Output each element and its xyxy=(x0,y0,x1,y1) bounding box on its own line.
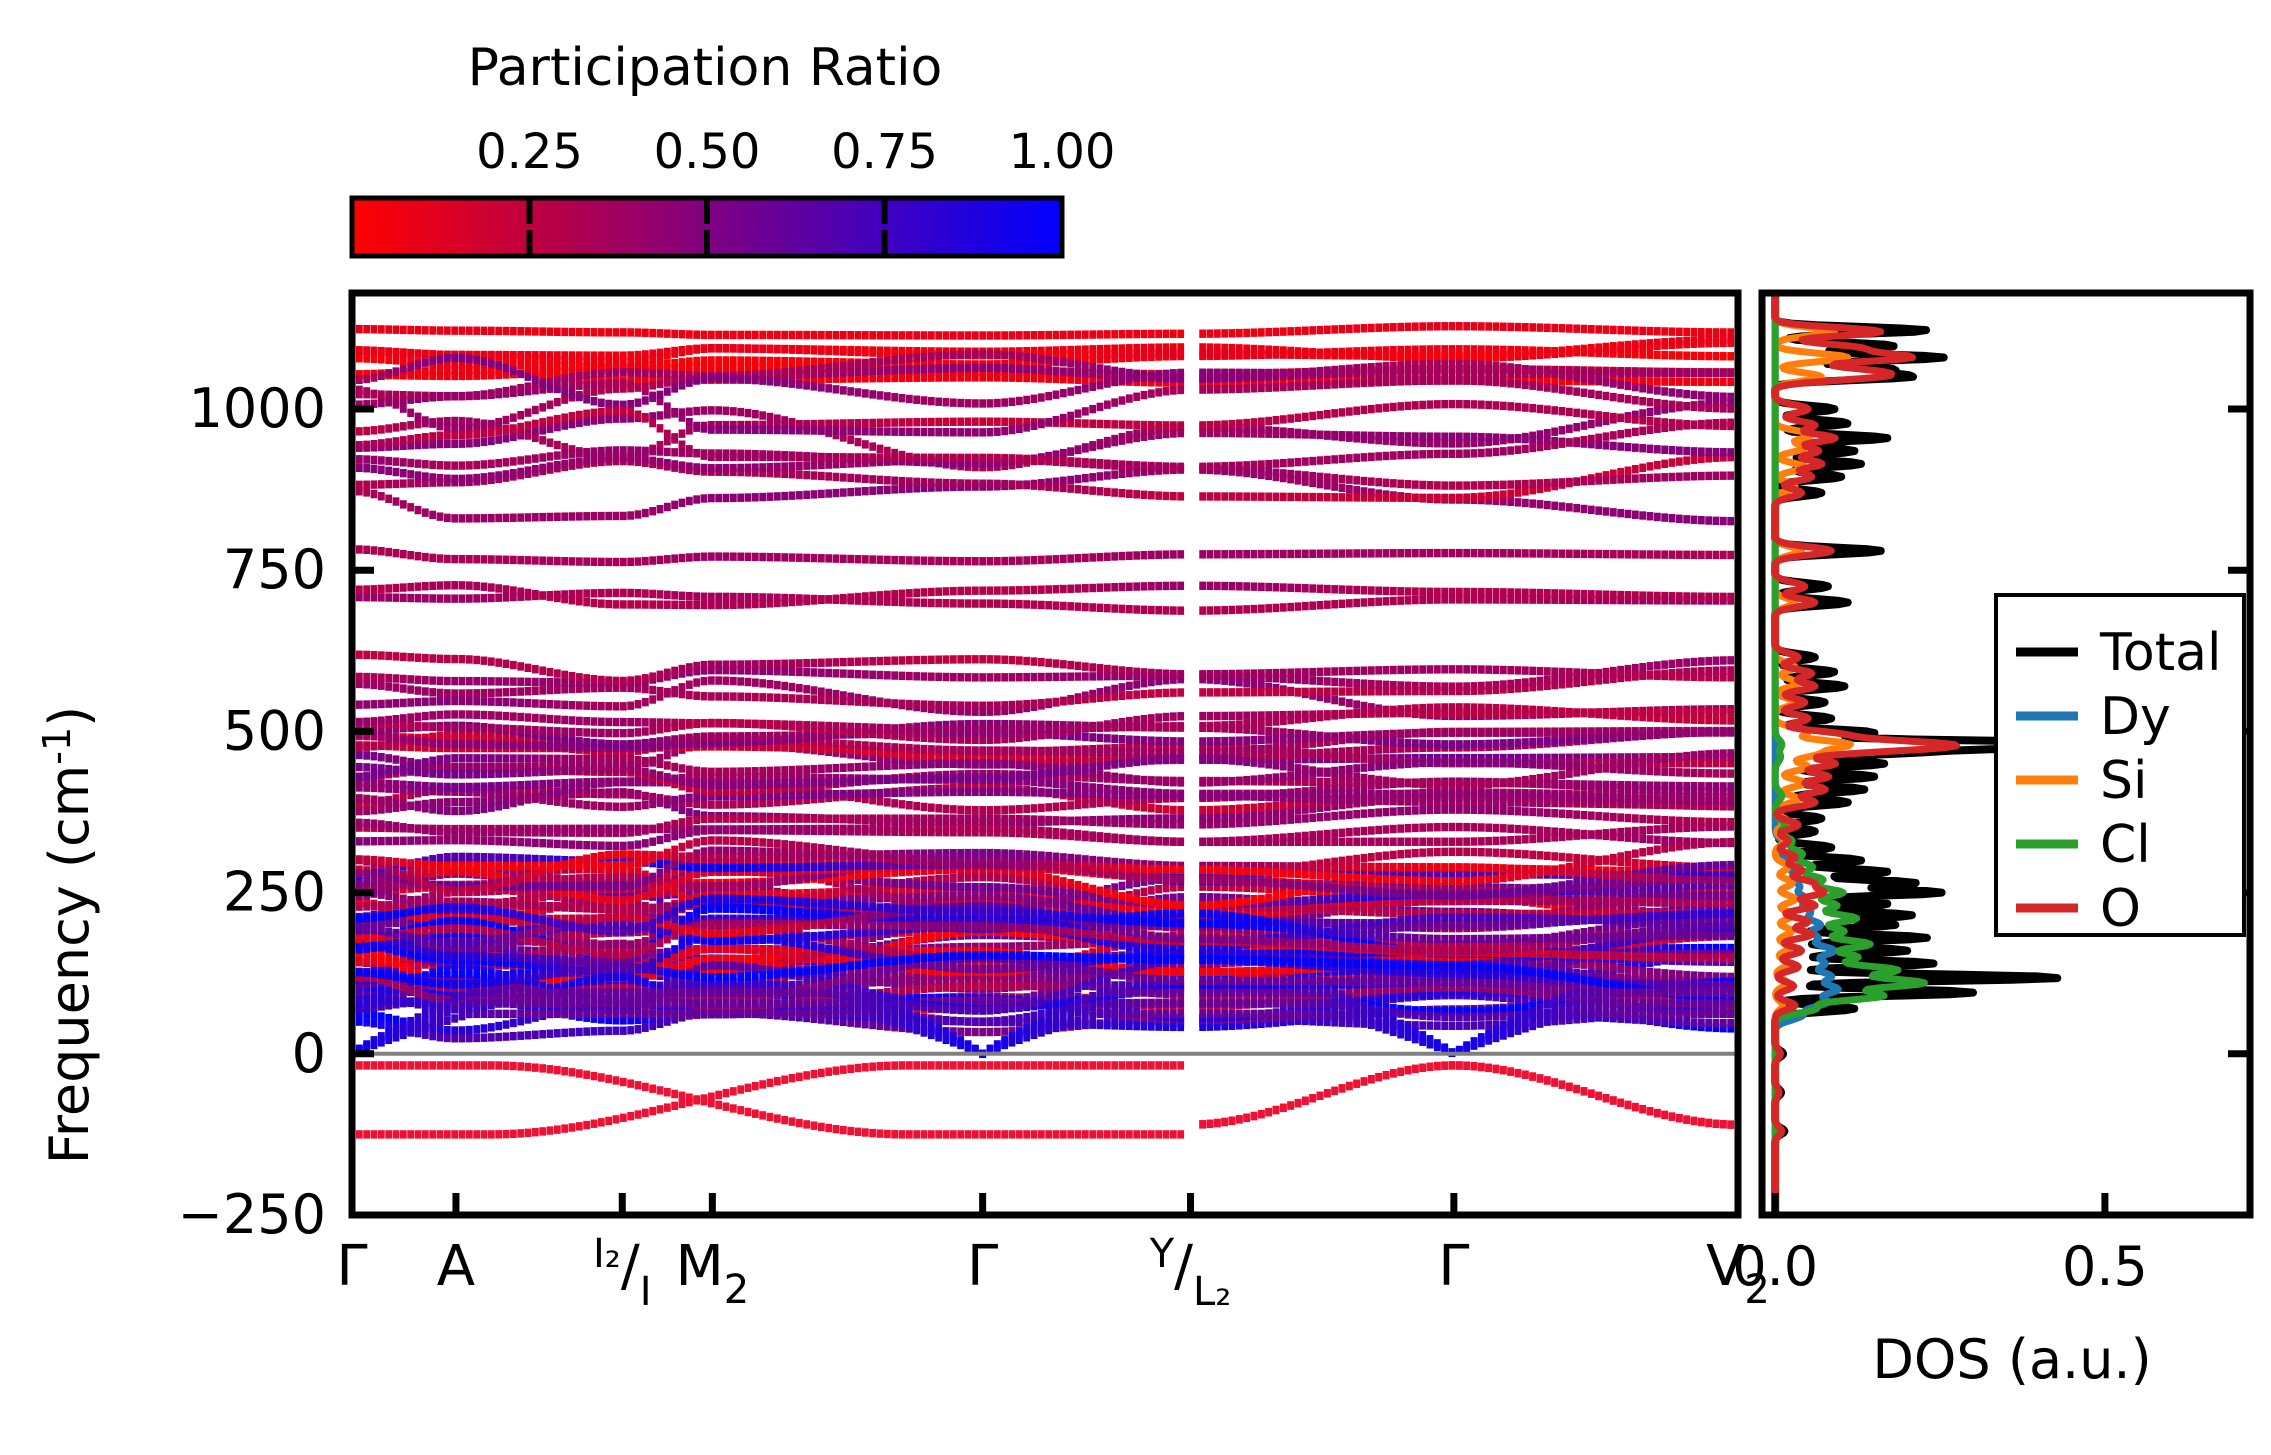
band-point xyxy=(1317,431,1324,439)
band-point xyxy=(1559,549,1566,557)
band-point xyxy=(1713,419,1720,427)
band-point xyxy=(1236,550,1243,558)
band-point xyxy=(1654,386,1661,394)
band-point xyxy=(884,486,891,494)
band-point xyxy=(730,677,737,685)
band-point xyxy=(1522,499,1529,507)
band-point xyxy=(1251,429,1258,437)
band-point xyxy=(481,555,488,563)
band-point xyxy=(378,347,385,355)
band-point xyxy=(1361,549,1368,557)
band-point xyxy=(481,657,488,665)
band-point xyxy=(1075,361,1082,369)
band-point xyxy=(987,454,994,462)
band-point xyxy=(1089,486,1096,494)
band-point xyxy=(415,413,422,421)
band-point xyxy=(1097,330,1104,338)
band-point xyxy=(1625,341,1632,349)
band-point xyxy=(1331,369,1338,377)
band-point xyxy=(429,594,436,602)
band-point xyxy=(415,654,422,662)
band-point xyxy=(891,656,898,664)
band-point xyxy=(1016,600,1023,608)
band-point xyxy=(1375,324,1382,332)
band-point xyxy=(693,601,700,609)
band-point xyxy=(1097,604,1104,612)
band-point xyxy=(715,425,722,433)
band-point xyxy=(1273,350,1280,358)
band-point xyxy=(1493,362,1500,370)
band-point xyxy=(569,672,576,680)
band-point xyxy=(371,742,378,750)
band-point xyxy=(1632,383,1639,391)
band-point xyxy=(591,409,598,417)
band-point xyxy=(1720,404,1727,412)
band-point xyxy=(1559,347,1566,355)
band-point xyxy=(539,464,546,472)
band-point xyxy=(1522,323,1529,331)
band-point xyxy=(965,479,972,487)
band-point xyxy=(1669,473,1676,481)
band-point xyxy=(1617,591,1624,599)
band-point xyxy=(437,440,444,448)
band-point xyxy=(503,660,510,668)
band-point xyxy=(1647,671,1654,679)
band-point xyxy=(1375,597,1382,605)
band-point xyxy=(1031,395,1038,403)
band-point xyxy=(503,364,510,372)
band-point xyxy=(554,423,561,431)
band-point xyxy=(371,673,378,681)
band-point xyxy=(1060,331,1067,339)
band-point xyxy=(459,439,466,447)
band-point xyxy=(752,357,759,365)
band-point xyxy=(1075,350,1082,358)
band-point xyxy=(1683,672,1690,680)
band-point xyxy=(627,676,634,684)
band-point xyxy=(1610,476,1617,484)
band-point xyxy=(459,689,466,697)
band-point xyxy=(855,368,862,376)
band-point xyxy=(451,431,458,439)
band-point xyxy=(1045,601,1052,609)
band-point xyxy=(1082,603,1089,611)
band-point xyxy=(1119,583,1126,591)
band-point xyxy=(532,590,539,598)
band-point xyxy=(1588,506,1595,514)
band-point xyxy=(833,669,840,677)
band-point xyxy=(906,331,913,339)
band-point xyxy=(400,391,407,399)
band-point xyxy=(965,673,972,681)
band-point xyxy=(1207,350,1214,358)
band-point xyxy=(517,411,524,419)
band-point xyxy=(371,347,378,355)
band-point xyxy=(1434,481,1441,489)
band-point xyxy=(1273,469,1280,477)
band-point xyxy=(825,689,832,697)
band-point xyxy=(371,700,378,708)
band-point xyxy=(407,675,414,683)
band-point xyxy=(1720,393,1727,401)
band-point xyxy=(1060,449,1067,457)
band-point xyxy=(510,457,517,465)
band-point xyxy=(1471,481,1478,489)
band-point xyxy=(1177,350,1184,358)
band-point xyxy=(1588,410,1595,418)
band-point xyxy=(1485,370,1492,378)
band-point xyxy=(1097,441,1104,449)
band-point xyxy=(1023,481,1030,489)
band-point xyxy=(429,357,436,365)
band-point xyxy=(576,557,583,565)
band-point xyxy=(1676,389,1683,397)
band-point xyxy=(972,417,979,425)
band-point xyxy=(1647,474,1654,482)
band-point xyxy=(1485,401,1492,409)
band-point xyxy=(1412,494,1419,502)
band-point xyxy=(422,460,429,468)
band-point xyxy=(1493,322,1500,330)
band-point xyxy=(451,392,458,400)
band-point xyxy=(781,379,788,387)
band-point xyxy=(532,699,539,707)
band-point xyxy=(935,352,942,360)
band-point xyxy=(1390,403,1397,411)
band-point xyxy=(1581,389,1588,397)
band-point xyxy=(1339,697,1346,705)
band-point xyxy=(1661,460,1668,468)
band-point xyxy=(1537,370,1544,378)
band-point xyxy=(855,348,862,356)
band-point xyxy=(1346,325,1353,333)
band-point xyxy=(715,331,722,339)
band-point xyxy=(994,599,1001,607)
band-point xyxy=(1441,432,1448,440)
band-point xyxy=(503,327,510,335)
band-point xyxy=(1009,600,1016,608)
band-point xyxy=(356,651,363,659)
band-point xyxy=(1353,549,1360,557)
band-point xyxy=(598,676,605,684)
band-point xyxy=(1141,679,1148,687)
band-point xyxy=(1632,396,1639,404)
band-point xyxy=(921,396,928,404)
band-point xyxy=(1119,460,1126,468)
band-point xyxy=(569,420,576,428)
band-point xyxy=(1251,582,1258,590)
band-point xyxy=(1295,602,1302,610)
band-point xyxy=(1221,492,1228,500)
band-point xyxy=(1427,322,1434,330)
band-point xyxy=(569,390,576,398)
band-point xyxy=(488,583,495,591)
band-point xyxy=(466,474,473,482)
band-point xyxy=(1478,588,1485,596)
band-point xyxy=(1383,352,1390,360)
band-point xyxy=(1111,583,1118,591)
band-point xyxy=(1603,432,1610,440)
band-point xyxy=(1647,327,1654,335)
band-point xyxy=(737,375,744,383)
band-point xyxy=(657,687,664,695)
band-point xyxy=(356,427,363,435)
band-point xyxy=(1419,401,1426,409)
band-point xyxy=(715,552,722,560)
band-point xyxy=(693,692,700,700)
band-point xyxy=(840,362,847,370)
band-point xyxy=(1727,335,1734,343)
band-point xyxy=(789,357,796,365)
band-point xyxy=(1537,443,1544,451)
band-point xyxy=(796,491,803,499)
band-point xyxy=(1353,586,1360,594)
band-point xyxy=(664,688,671,696)
band-point xyxy=(1258,350,1265,358)
band-point xyxy=(1060,358,1067,366)
band-point xyxy=(1251,550,1258,558)
band-point xyxy=(1669,458,1676,466)
band-point xyxy=(451,417,458,425)
band-point xyxy=(1104,365,1111,373)
band-point xyxy=(517,699,524,707)
band-point xyxy=(363,751,370,759)
band-point xyxy=(884,476,891,484)
band-point xyxy=(767,357,774,365)
band-point xyxy=(840,555,847,563)
band-point xyxy=(1163,387,1170,395)
band-point xyxy=(481,371,488,379)
band-point xyxy=(1691,328,1698,336)
band-point xyxy=(525,589,532,597)
band-point xyxy=(1280,369,1287,377)
band-point xyxy=(1331,380,1338,388)
band-point xyxy=(715,494,722,502)
band-point xyxy=(1141,462,1148,470)
band-point xyxy=(517,588,524,596)
band-point xyxy=(1126,394,1133,402)
band-point xyxy=(1485,377,1492,385)
band-point xyxy=(576,372,583,380)
band-point xyxy=(789,331,796,339)
band-point xyxy=(1639,444,1646,452)
band-point xyxy=(1397,451,1404,459)
band-point xyxy=(723,453,730,461)
band-point xyxy=(679,330,686,338)
band-point xyxy=(1705,419,1712,427)
band-point xyxy=(1023,657,1030,665)
band-point xyxy=(965,399,972,407)
band-point xyxy=(1669,592,1676,600)
band-point xyxy=(1133,330,1140,338)
band-point xyxy=(657,349,664,357)
band-point xyxy=(1485,681,1492,689)
band-point xyxy=(715,593,722,601)
band-point xyxy=(627,511,634,519)
band-point xyxy=(1089,672,1096,680)
band-point xyxy=(774,426,781,434)
band-point xyxy=(1705,551,1712,559)
band-point xyxy=(708,406,715,414)
band-point xyxy=(723,692,730,700)
band-point xyxy=(1449,370,1456,378)
band-point xyxy=(1170,369,1177,377)
band-point xyxy=(1221,350,1228,358)
band-point xyxy=(943,428,950,436)
band-point xyxy=(1529,589,1536,597)
band-point xyxy=(1412,596,1419,604)
band-point xyxy=(1654,327,1661,335)
band-point xyxy=(767,331,774,339)
band-point xyxy=(1221,462,1228,470)
band-point xyxy=(1280,550,1287,558)
band-point xyxy=(877,349,884,357)
band-point xyxy=(1449,400,1456,408)
band-point xyxy=(693,495,700,503)
band-point xyxy=(1236,670,1243,678)
band-point xyxy=(1331,431,1338,439)
band-point xyxy=(1610,591,1617,599)
band-point xyxy=(400,348,407,356)
band-point xyxy=(378,466,385,474)
band-point xyxy=(1485,588,1492,596)
band-point xyxy=(503,593,510,601)
band-point xyxy=(1588,344,1595,352)
band-point xyxy=(862,440,869,448)
band-point xyxy=(539,418,546,426)
band-point xyxy=(1214,688,1221,696)
band-point xyxy=(811,365,818,373)
band-point xyxy=(613,512,620,520)
band-point xyxy=(1199,463,1206,471)
band-point xyxy=(547,425,554,433)
band-point xyxy=(627,408,634,416)
band-point xyxy=(1559,426,1566,434)
band-point xyxy=(1104,330,1111,338)
band-point xyxy=(862,427,869,435)
band-point xyxy=(1339,369,1346,377)
band-point xyxy=(906,477,913,485)
band-point xyxy=(495,371,502,379)
band-point xyxy=(708,374,715,382)
band-point xyxy=(965,331,972,339)
band-point xyxy=(825,472,832,480)
band-point xyxy=(1177,550,1184,558)
band-point xyxy=(525,664,532,672)
band-point xyxy=(913,331,920,339)
band-point xyxy=(605,702,612,710)
band-point xyxy=(1060,585,1067,593)
band-point xyxy=(1588,550,1595,558)
band-point xyxy=(891,356,898,364)
band-point xyxy=(495,594,502,602)
band-point xyxy=(1515,498,1522,506)
band-point xyxy=(884,392,891,400)
band-point xyxy=(488,351,495,359)
band-point xyxy=(1478,400,1485,408)
band-point xyxy=(1632,415,1639,423)
band-point xyxy=(1507,480,1514,488)
band-point xyxy=(1654,445,1661,453)
band-point xyxy=(1727,471,1734,479)
band-point xyxy=(1654,661,1661,669)
band-point xyxy=(466,689,473,697)
band-point xyxy=(1478,377,1485,385)
band-point xyxy=(1287,688,1294,696)
band-point xyxy=(1361,477,1368,485)
band-point xyxy=(1610,670,1617,678)
band-point xyxy=(811,471,818,479)
band-point xyxy=(686,426,693,434)
band-point xyxy=(649,419,656,427)
band-point xyxy=(752,331,759,339)
band-point xyxy=(525,466,532,474)
colorbar-tick-labels: 0.250.500.751.00 xyxy=(476,124,1115,180)
band-point xyxy=(1405,377,1412,385)
band-point xyxy=(1089,405,1096,413)
band-point xyxy=(671,591,678,599)
band-point xyxy=(686,691,693,699)
band-point xyxy=(899,656,906,664)
band-point xyxy=(481,327,488,335)
band-point xyxy=(847,658,854,666)
y-tick-label-0: −250 xyxy=(178,1183,326,1246)
band-point xyxy=(503,387,510,395)
band-point xyxy=(1493,401,1500,409)
band-point xyxy=(1214,369,1221,377)
band-point xyxy=(1155,431,1162,439)
band-point xyxy=(1456,322,1463,330)
band-point xyxy=(1170,386,1177,394)
band-point xyxy=(1199,606,1206,614)
band-point xyxy=(1617,509,1624,517)
y-tick-label-2: 250 xyxy=(223,861,326,924)
band-point xyxy=(591,370,598,378)
band-point xyxy=(943,701,950,709)
band-point xyxy=(473,555,480,563)
band-point xyxy=(1397,587,1404,595)
band-point xyxy=(1588,369,1595,377)
band-point xyxy=(701,553,708,561)
band-point xyxy=(1551,502,1558,510)
band-point xyxy=(466,581,473,589)
band-point xyxy=(1529,323,1536,331)
band-point xyxy=(1625,429,1632,437)
band-point xyxy=(605,446,612,454)
band-point xyxy=(789,491,796,499)
band-point xyxy=(1632,326,1639,334)
band-point xyxy=(943,557,950,565)
band-point xyxy=(1691,369,1698,377)
band-point xyxy=(987,350,994,358)
band-point xyxy=(627,600,634,608)
band-point xyxy=(979,454,986,462)
band-point xyxy=(781,426,788,434)
band-point xyxy=(833,658,840,666)
band-point xyxy=(921,365,928,373)
band-point xyxy=(1346,379,1353,387)
band-point xyxy=(686,418,693,426)
band-point xyxy=(444,555,451,563)
band-point xyxy=(1456,370,1463,378)
band-point xyxy=(1111,666,1118,674)
band-point xyxy=(371,585,378,593)
band-point xyxy=(1339,484,1346,492)
band-point xyxy=(774,667,781,675)
band-point xyxy=(862,555,869,563)
band-point xyxy=(459,677,466,685)
band-point xyxy=(708,552,715,560)
